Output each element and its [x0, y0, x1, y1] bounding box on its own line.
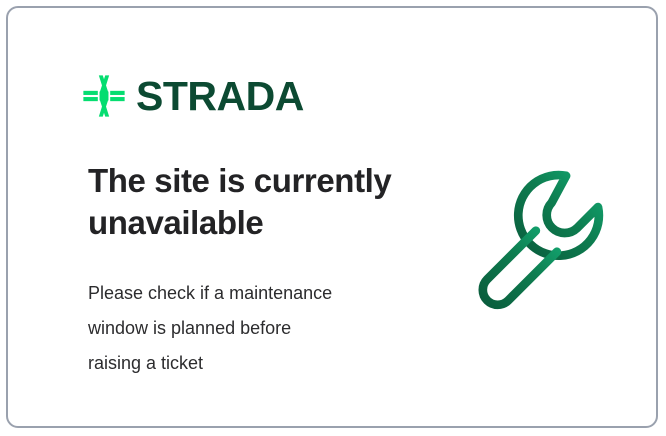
description-line: Please check if a maintenance	[88, 276, 398, 311]
page-description: Please check if a maintenance window is …	[88, 276, 398, 381]
brand-logo-lockup: STRADA	[82, 74, 304, 118]
page-title: The site is currently unavailable	[88, 160, 418, 243]
status-card: STRADA The site is currently unavailable…	[6, 6, 658, 428]
description-line: window is planned before	[88, 311, 398, 346]
strada-asterisk-icon	[82, 74, 126, 118]
wrench-icon	[463, 160, 618, 315]
description-line: raising a ticket	[88, 346, 398, 381]
error-page-screen: STRADA The site is currently unavailable…	[0, 0, 666, 436]
brand-wordmark: STRADA	[136, 76, 304, 117]
